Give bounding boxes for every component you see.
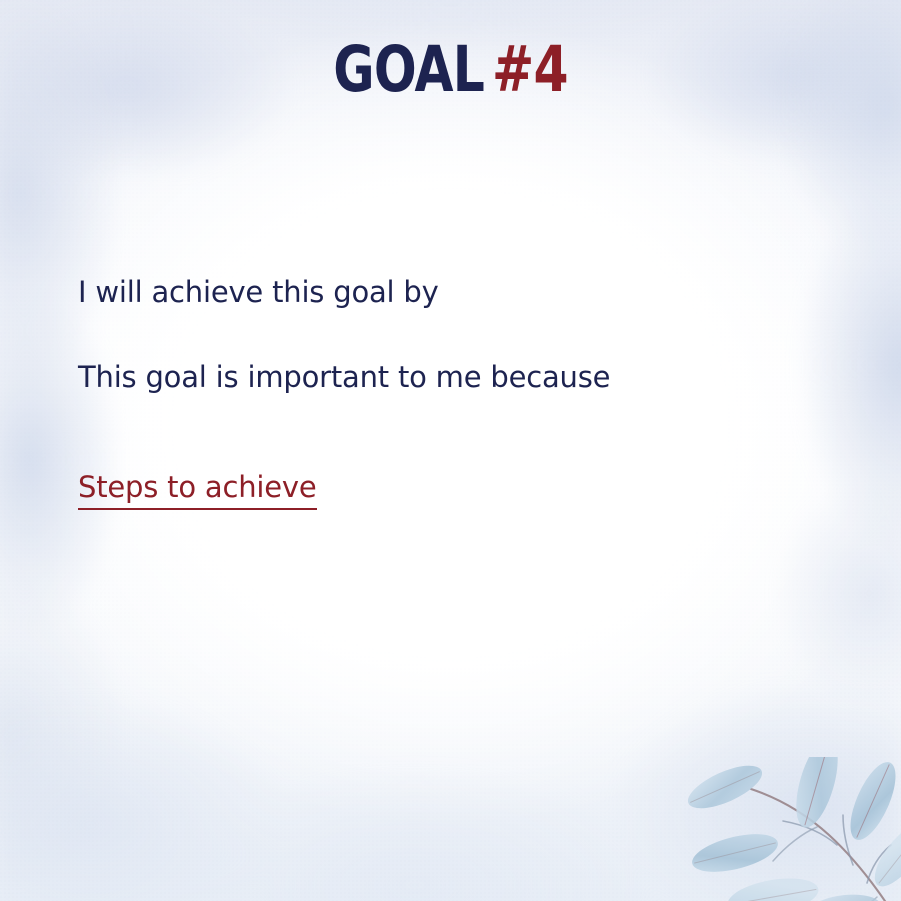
background-wash-left: [0, 0, 240, 901]
background-wash-bottom: [0, 651, 901, 901]
prompt-important-because: This goal is important to me because: [78, 362, 610, 394]
leaf-branch-illustration: [677, 757, 901, 901]
background-wash-base: [0, 0, 901, 901]
prompt-achieve-by: I will achieve this goal by: [78, 277, 439, 309]
page-title-number: #4: [492, 33, 568, 106]
goal-worksheet-page: GOAL#4 I will achieve this goal by This …: [0, 0, 901, 901]
background-wash-right: [661, 0, 901, 730]
background-texture-grain: [0, 0, 901, 901]
page-title-word: GOAL: [333, 33, 484, 106]
steps-to-achieve-link[interactable]: Steps to achieve: [78, 472, 317, 510]
page-title: GOAL#4: [90, 38, 811, 101]
